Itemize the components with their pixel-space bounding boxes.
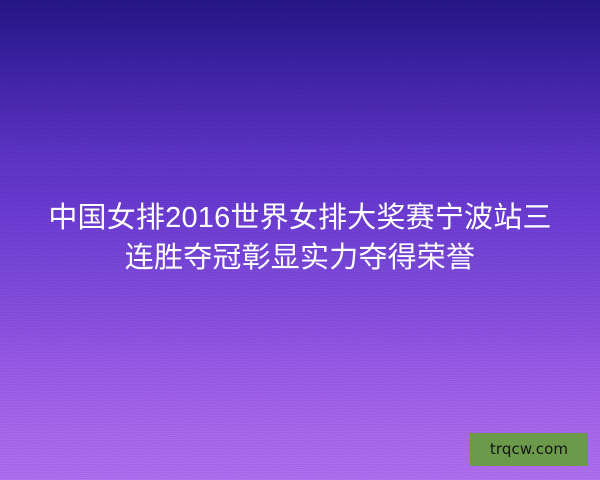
image-canvas: 中国女排2016世界女排大奖赛宁波站三 连胜夺冠彰显实力夺得荣誉 trqcw.c… [0,0,600,480]
headline-text: 中国女排2016世界女排大奖赛宁波站三 连胜夺冠彰显实力夺得荣誉 [0,198,600,278]
headline-line-2: 连胜夺冠彰显实力夺得荣誉 [26,238,574,278]
headline-line-1: 中国女排2016世界女排大奖赛宁波站三 [26,198,574,238]
watermark-label: trqcw.com [490,442,568,457]
watermark-badge: trqcw.com [470,433,588,466]
